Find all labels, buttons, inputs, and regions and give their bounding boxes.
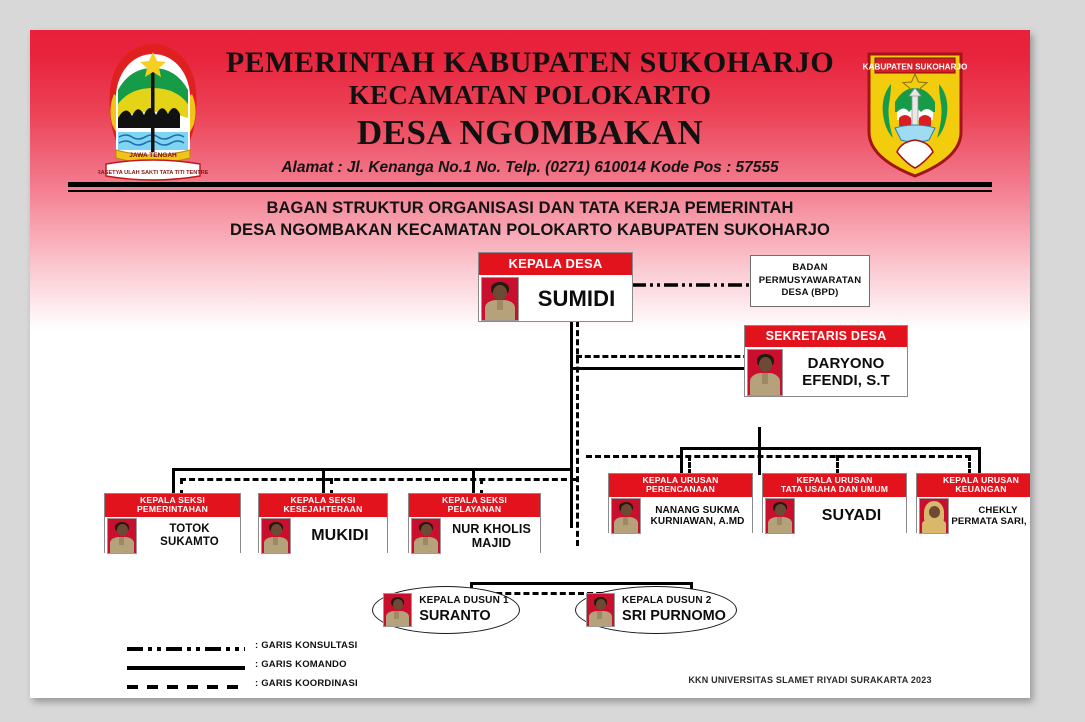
edge-kaur-koordinasi (586, 455, 971, 458)
edge-kaur-koord-drop-1 (688, 455, 691, 475)
node-kaur-perencanaan-title: KEPALA URUSAN PERENCANAAN (609, 474, 752, 498)
edge-kaur-drop-1 (680, 447, 683, 475)
edge-trunk-kepaladesa (570, 321, 573, 528)
node-kadus-2[interactable]: KEPALA DUSUN 2 SRI PURNOMO (575, 586, 737, 634)
node-kasi-pelayanan-name-1: NUR KHOLIS (443, 522, 540, 536)
org-chart: KEPALA DESA SUMIDI BADAN PERMUSYAWARATAN… (30, 30, 1030, 698)
node-kepala-desa[interactable]: KEPALA DESA SUMIDI (478, 252, 633, 322)
line-style-konsultasi-icon (127, 646, 245, 652)
avatar (481, 277, 519, 321)
edge-kaur-koord-drop-3 (968, 455, 971, 475)
edge-kasi-koordinasi (180, 478, 576, 481)
node-kasi-pemerintahan-name: TOTOK SUKAMTO (139, 523, 240, 549)
line-style-komando-icon (127, 665, 245, 671)
avatar (747, 349, 783, 396)
legend-row-koordinasi: : GARIS KOORDINASI (105, 676, 405, 695)
poster-page: JAWA TENGAH PRASETYA ULAH SAKTI TATA TIT… (30, 30, 1030, 698)
node-bpd[interactable]: BADAN PERMUSYAWARATAN DESA (BPD) (750, 255, 870, 307)
edge-kaur-bus (680, 447, 980, 450)
node-sekretaris-desa-name-2: EFENDI, S.T (785, 372, 907, 389)
node-kadus-2-name: SRI PURNOMO (622, 608, 726, 625)
node-kaur-keuangan-title: KEPALA URUSAN KEUANGAN (917, 474, 1030, 498)
edge-dusun-bus (470, 582, 692, 585)
avatar (261, 518, 291, 554)
edge-kaur-koord-drop-2 (836, 455, 839, 475)
node-sekretaris-desa-title: SEKRETARIS DESA (745, 326, 907, 348)
legend: : GARIS KONSULTASI : GARIS KOMANDO : GAR… (105, 638, 405, 695)
node-kaur-perencanaan-name-1: NANANG SUKMA (643, 505, 752, 517)
node-kasi-pelayanan-title: KEPALA SEKSI PELAYANAN (409, 494, 540, 518)
node-kaur-keuangan-name-1: CHEKLY (951, 505, 1030, 516)
avatar (919, 498, 949, 534)
edge-komando-sekdes (570, 367, 760, 370)
edge-kepaladesa-bpd (632, 282, 752, 288)
node-kepala-desa-title: KEPALA DESA (479, 253, 632, 276)
node-kasi-kesejahteraan-name: MUKIDI (293, 527, 387, 545)
node-kasi-pelayanan[interactable]: KEPALA SEKSI PELAYANAN NUR KHOLIS MAJID (408, 493, 541, 553)
avatar (765, 498, 795, 534)
node-kadus-1[interactable]: KEPALA DUSUN 1 SURANTO (372, 586, 520, 634)
edge-kasi-drop-2 (322, 468, 325, 496)
node-kasi-kesejahteraan[interactable]: KEPALA SEKSI KESEJAHTERAAN MUKIDI (258, 493, 388, 553)
line-style-koordinasi-icon (127, 684, 245, 690)
avatar (611, 498, 641, 534)
edge-koordinasi-sekdes (576, 355, 758, 358)
node-kadus-1-title: KEPALA DUSUN 1 (419, 595, 508, 608)
node-kasi-pemerintahan-title: KEPALA SEKSI PEMERINTAHAN (105, 494, 240, 518)
node-kepala-desa-name: SUMIDI (521, 286, 632, 311)
edge-kasi-drop-3 (472, 468, 475, 496)
node-kaur-perencanaan-name-2: KURNIAWAN, A.MD (643, 516, 752, 528)
node-kaur-tata-usaha-name: SUYADI (797, 507, 906, 525)
avatar (586, 593, 615, 627)
legend-label-komando: : GARIS KOMANDO (255, 659, 347, 670)
node-kaur-tata-usaha[interactable]: KEPALA URUSAN TATA USAHA DAN UMUM SUYADI (762, 473, 907, 533)
edge-sekdes-down (758, 427, 761, 449)
node-kasi-pelayanan-name-2: MAJID (443, 536, 540, 550)
node-kadus-1-name: SURANTO (419, 608, 508, 625)
node-kasi-kesejahteraan-title: KEPALA SEKSI KESEJAHTERAAN (259, 494, 387, 518)
edge-kasi-drop-1 (172, 468, 175, 496)
legend-row-konsultasi: : GARIS KONSULTASI (105, 638, 405, 657)
avatar (107, 518, 137, 554)
avatar (411, 518, 441, 554)
node-kaur-keuangan[interactable]: KEPALA URUSAN KEUANGAN CHEKLY PERMATA SA… (916, 473, 1030, 533)
legend-row-komando: : GARIS KOMANDO (105, 657, 405, 676)
node-kaur-tata-usaha-title: KEPALA URUSAN TATA USAHA DAN UMUM (763, 474, 906, 498)
node-bpd-line-2: PERMUSYAWARATAN (759, 275, 862, 288)
node-sekretaris-desa[interactable]: SEKRETARIS DESA DARYONO EFENDI, S.T (744, 325, 908, 397)
legend-label-koordinasi: : GARIS KOORDINASI (255, 678, 358, 689)
edge-kaur-drop-2 (758, 447, 761, 475)
node-kadus-2-title: KEPALA DUSUN 2 (622, 595, 726, 608)
node-kaur-perencanaan[interactable]: KEPALA URUSAN PERENCANAAN NANANG SUKMA K… (608, 473, 753, 533)
edge-kasi-bus (172, 468, 572, 471)
node-sekretaris-desa-name-1: DARYONO (785, 355, 907, 372)
node-bpd-line-1: BADAN (792, 262, 827, 275)
footer-credit: KKN UNIVERSITAS SLAMET RIYADI SURAKARTA … (630, 675, 990, 685)
edge-kaur-drop-3 (978, 447, 981, 475)
node-kasi-pemerintahan[interactable]: KEPALA SEKSI PEMERINTAHAN TOTOK SUKAMTO (104, 493, 241, 553)
node-kaur-keuangan-name-2: PERMATA SARI, S.T (951, 516, 1030, 527)
avatar (383, 593, 412, 627)
legend-label-konsultasi: : GARIS KONSULTASI (255, 640, 357, 651)
node-bpd-line-3: DESA (BPD) (781, 287, 838, 300)
